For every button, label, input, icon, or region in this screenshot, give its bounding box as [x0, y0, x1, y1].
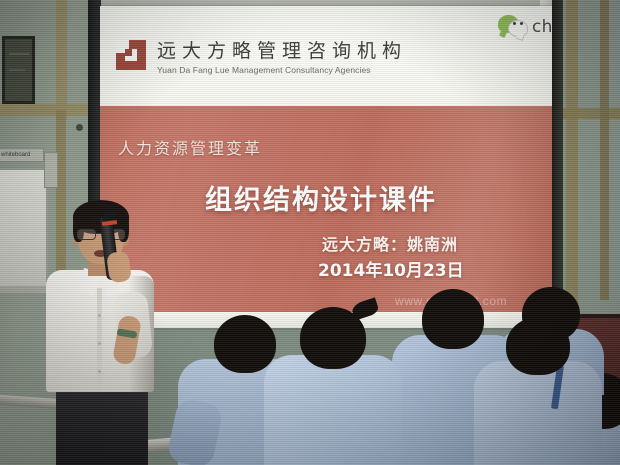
presenter-hand	[106, 251, 132, 284]
projection-screen: chinaydfl 远大方略管理咨询机构 Yuan Da Fang Lue Ma…	[100, 6, 552, 328]
wall-socket	[76, 124, 83, 131]
audience-member	[470, 317, 602, 465]
wechat-icon	[498, 15, 528, 39]
slide-presenter: 远大方略：姚南洲	[322, 231, 458, 255]
wall-panel	[44, 152, 58, 188]
presenter	[40, 196, 160, 465]
company-logo: 远大方略管理咨询机构 Yuan Da Fang Lue Management C…	[116, 40, 407, 75]
audience-member	[258, 305, 402, 465]
slide-title: 组织结构设计课件	[205, 178, 437, 217]
company-logo-mark-icon	[116, 40, 146, 70]
sign-line-2	[9, 69, 25, 71]
slide-date: 2014年10月23日	[318, 256, 464, 281]
whiteboard-label: whiteboard	[0, 148, 44, 162]
presenter-shirt-placket	[97, 288, 102, 392]
wechat-logo: chinaydfl	[498, 12, 552, 42]
presentation-photo: whiteboard chinaydfl	[0, 0, 620, 465]
wall-trim-vertical-left	[56, 0, 67, 120]
presenter-trousers	[56, 386, 148, 465]
framed-wall-sign	[2, 36, 35, 104]
wechat-account-name: chinaydfl	[532, 17, 552, 37]
slide-subtitle: 人力资源管理变革	[118, 135, 262, 159]
company-name-cn: 远大方略管理咨询机构	[157, 40, 407, 62]
company-name-en: Yuan Da Fang Lue Management Consultancy …	[157, 65, 407, 75]
wall-trim-vertical-right-outer	[600, 0, 609, 300]
sign-line-1	[9, 53, 29, 55]
slide-title-band: 人力资源管理变革 组织结构设计课件 远大方略：姚南洲 2014年10月23日 w…	[100, 106, 552, 312]
